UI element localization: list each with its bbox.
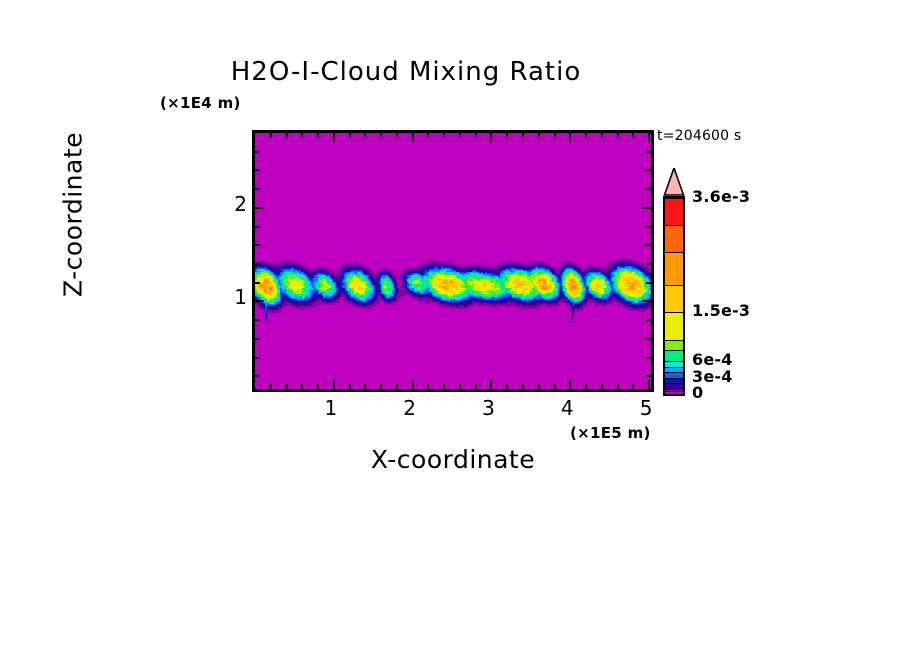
x-tick-label: 1 (311, 396, 351, 420)
tick-mark (569, 380, 571, 389)
tick-mark (255, 357, 260, 359)
plot-title-text: H2O-I-Cloud Mixing Ratio (231, 57, 582, 87)
tick-mark (349, 133, 351, 138)
tick-mark (646, 319, 651, 321)
x-tick-label: 4 (547, 396, 587, 420)
tick-mark (646, 338, 651, 340)
tick-mark (255, 169, 260, 171)
colorbar-band-divider (665, 391, 683, 392)
tick-mark (459, 384, 461, 389)
timestamp-annotation: t=204600 s (657, 128, 741, 144)
tick-mark (522, 133, 524, 138)
tick-mark (646, 188, 651, 190)
x-tick-label: 5 (626, 396, 666, 420)
tick-mark (396, 384, 398, 389)
colorbar-band-divider (665, 225, 683, 226)
colorbar-band-divider (665, 312, 683, 313)
tick-mark (646, 357, 651, 359)
colorbar-band-divider (665, 350, 683, 351)
tick-mark (270, 133, 272, 138)
tick-mark (601, 133, 603, 138)
tick-mark (554, 133, 556, 138)
y-tick-label: 2 (207, 192, 247, 216)
colorbar-band-divider (665, 361, 683, 362)
tick-mark (380, 384, 382, 389)
tick-mark (396, 133, 398, 138)
tick-mark (255, 319, 260, 321)
tick-mark (538, 133, 540, 138)
tick-mark (646, 169, 651, 171)
tick-mark (506, 133, 508, 138)
tick-mark (585, 384, 587, 389)
page-title: H2O-I-Cloud Mixing Ratio (0, 57, 904, 87)
y-axis-title: Z-coordinate (59, 90, 88, 340)
colorbar-band-divider (665, 198, 683, 199)
colorbar-band (665, 340, 683, 351)
tick-mark (301, 133, 303, 138)
tick-mark (286, 384, 288, 389)
tick-mark (646, 263, 651, 265)
x-tick-label: 3 (468, 396, 508, 420)
tick-mark (364, 133, 366, 138)
colorbar-band-divider (665, 367, 683, 368)
colorbar-band-divider (665, 285, 683, 286)
tick-mark (554, 384, 556, 389)
tick-mark (427, 133, 429, 138)
tick-mark (648, 380, 650, 389)
tick-mark (255, 188, 260, 190)
tick-mark (506, 384, 508, 389)
x-tick-label: 2 (390, 396, 430, 420)
tick-mark (255, 375, 260, 377)
tick-mark (569, 133, 571, 142)
tick-mark (333, 380, 335, 389)
tick-mark (255, 300, 264, 302)
figure-canvas: H2O-I-Cloud Mixing Ratio (×1E4 m) (×1E5 … (0, 0, 904, 654)
tick-mark (255, 263, 260, 265)
tick-mark (585, 133, 587, 138)
tick-mark (255, 151, 260, 153)
y-tick-label: 1 (207, 285, 247, 309)
tick-mark (538, 384, 540, 389)
tick-mark (380, 133, 382, 138)
tick-mark (270, 384, 272, 389)
tick-mark (301, 384, 303, 389)
colorbar-band-divider (665, 378, 683, 379)
tick-mark (642, 300, 651, 302)
tick-mark (632, 384, 634, 389)
tick-mark (443, 384, 445, 389)
colorbar-tick-label: 0 (692, 383, 703, 402)
tick-mark (255, 338, 260, 340)
tick-mark (617, 133, 619, 138)
tick-mark (475, 384, 477, 389)
colorbar-tick-label: 1.5e-3 (692, 301, 750, 320)
tick-mark (317, 133, 319, 138)
tick-mark (333, 133, 335, 142)
colorbar-band (665, 285, 683, 312)
colorbar-band-divider (665, 372, 683, 373)
y-axis-unit-label: (×1E4 m) (160, 94, 241, 112)
tick-mark (646, 244, 651, 246)
tick-mark (459, 133, 461, 138)
colorbar-band (665, 225, 683, 252)
tick-mark (646, 282, 651, 284)
tick-mark (632, 133, 634, 138)
tick-mark (412, 133, 414, 142)
tick-mark (427, 384, 429, 389)
tick-mark (646, 226, 651, 228)
tick-mark (349, 384, 351, 389)
colorbar-band-divider (665, 252, 683, 253)
tick-mark (522, 384, 524, 389)
colorbar-band-divider (665, 383, 683, 384)
contour-plot-area (252, 130, 654, 392)
tick-mark (286, 133, 288, 138)
cloud-mixing-ratio-field (255, 133, 651, 389)
tick-mark (255, 244, 260, 246)
colorbar-band (665, 350, 683, 361)
colorbar-tick-label: 3.6e-3 (692, 187, 750, 206)
tick-mark (255, 207, 264, 209)
tick-mark (648, 133, 650, 142)
tick-mark (642, 207, 651, 209)
tick-mark (617, 384, 619, 389)
tick-mark (317, 384, 319, 389)
tick-mark (475, 133, 477, 138)
tick-mark (412, 380, 414, 389)
tick-mark (490, 133, 492, 142)
tick-mark (255, 282, 260, 284)
tick-mark (601, 384, 603, 389)
colorbar-band (665, 198, 683, 225)
tick-mark (490, 380, 492, 389)
tick-mark (443, 133, 445, 138)
colorbar (663, 196, 685, 396)
tick-mark (646, 151, 651, 153)
tick-mark (646, 375, 651, 377)
colorbar-band (665, 312, 683, 339)
tick-mark (364, 384, 366, 389)
colorbar-arrow-cap (663, 168, 685, 196)
colorbar-band (665, 252, 683, 285)
colorbar-band-divider (665, 340, 683, 341)
x-axis-title: X-coordinate (252, 445, 654, 474)
colorbar-band-divider (665, 389, 683, 390)
x-axis-unit-label: (×1E5 m) (570, 424, 651, 442)
tick-mark (255, 226, 260, 228)
